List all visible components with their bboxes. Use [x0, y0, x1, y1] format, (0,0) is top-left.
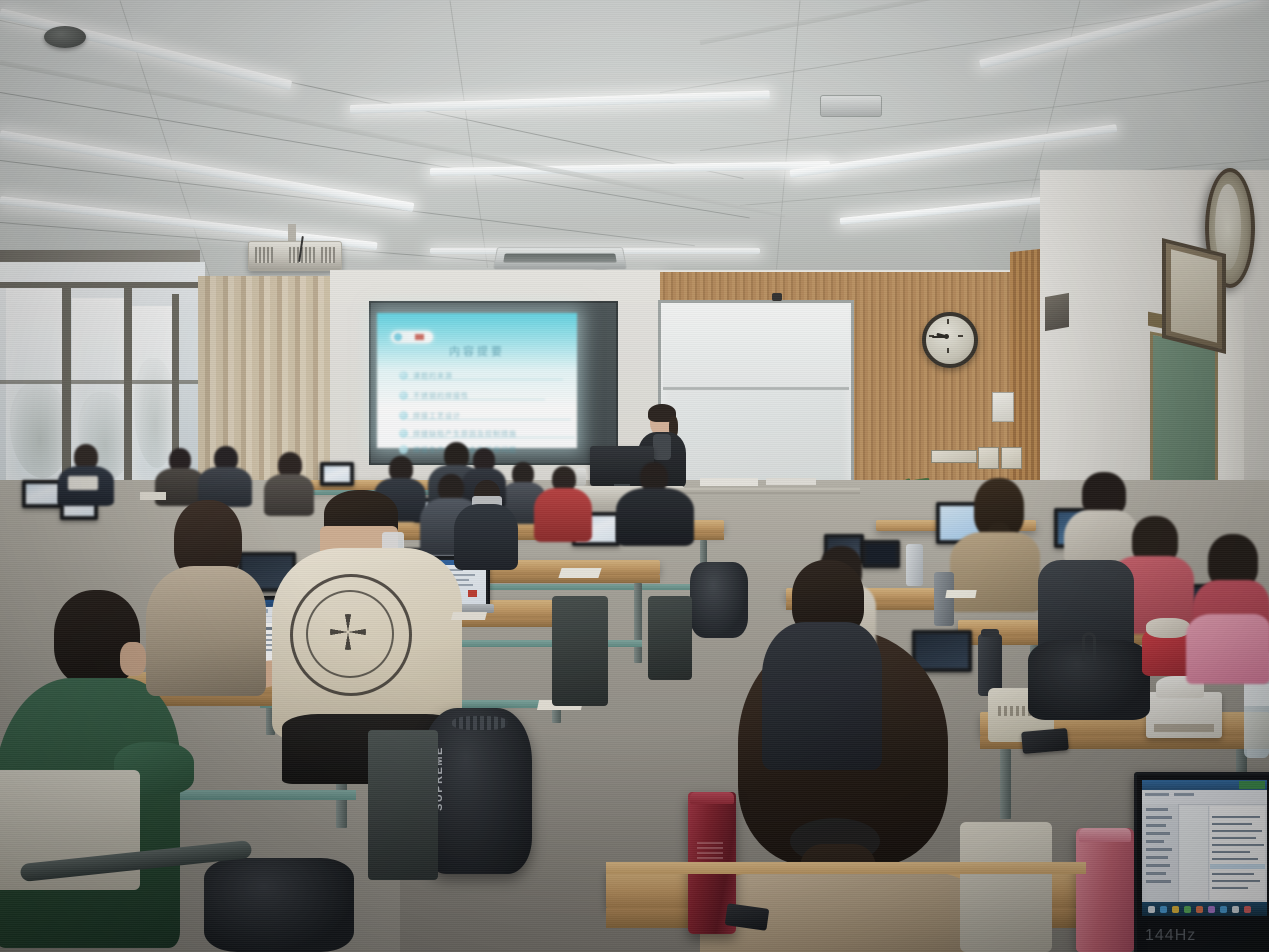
framed-picture — [1162, 238, 1226, 354]
student-foreground-beige — [146, 500, 266, 690]
sweatshirt-cross-emblem — [330, 614, 366, 650]
chair[interactable] — [552, 596, 608, 706]
slide-bullet-text: 焊缝缺陷产生原因及控制措施 — [413, 429, 517, 439]
white-bottle[interactable] — [906, 544, 923, 586]
backpack[interactable] — [690, 562, 748, 638]
notebook[interactable] — [558, 568, 601, 578]
student-right-dark — [762, 560, 882, 770]
grey-thermos[interactable] — [934, 572, 954, 626]
ceiling-vent-secondary — [820, 95, 882, 117]
slide-bullet-row: 焊接工艺设计 — [399, 409, 565, 422]
papers-on-ledge — [700, 478, 758, 486]
slide-logo — [391, 331, 433, 343]
student — [58, 444, 114, 502]
wall-notice-strip — [931, 450, 977, 463]
laptop[interactable] — [320, 462, 354, 486]
projection-screen: 内容提要 课题的来源 不锈钢的焊接性 焊接工艺设计 焊缝缺陷产生原因及控制措施 — [369, 301, 618, 465]
slide-bullet-row: 焊缝缺陷产生原因及控制措施 — [399, 427, 565, 440]
student — [950, 478, 1040, 600]
slide-bullet-row: 不锈钢的焊接性 — [399, 389, 565, 402]
slide-title: 内容提要 — [377, 343, 577, 359]
student — [534, 466, 592, 538]
backpack-supreme[interactable]: SUPREME — [422, 708, 532, 874]
paper[interactable] — [945, 590, 976, 598]
wall-notice — [978, 447, 999, 469]
student — [616, 462, 694, 542]
ceiling-air-conditioner — [493, 247, 627, 269]
paper[interactable] — [451, 612, 487, 620]
chair[interactable] — [368, 730, 438, 880]
slide-bullet-text: 焊接工艺设计 — [413, 411, 461, 421]
bullet-icon — [399, 445, 408, 454]
bullet-icon — [399, 391, 408, 400]
smartphone[interactable] — [1021, 728, 1069, 754]
classroom-photo: 内容提要 课题的来源 不锈钢的焊接性 焊接工艺设计 焊缝缺陷产生原因及控制措施 — [0, 0, 1269, 952]
bullet-icon — [399, 411, 408, 420]
ceiling-projector — [248, 241, 342, 271]
chair-backrest[interactable] — [960, 822, 1052, 952]
student — [198, 446, 252, 502]
file-explorer-window[interactable] — [1142, 780, 1267, 916]
presentation-slide: 内容提要 课题的来源 不锈钢的焊接性 焊接工艺设计 焊缝缺陷产生原因及控制措施 — [377, 313, 577, 448]
wall-clock-icon — [922, 312, 978, 368]
laptop-foreground-right[interactable]: 144Hz — [1134, 772, 1269, 952]
laptop-bezel-label: 144Hz — [1145, 927, 1196, 945]
backpack-handle — [1082, 632, 1096, 661]
wall-sign — [992, 392, 1014, 422]
papers-on-ledge — [766, 478, 816, 485]
slide-bullet-row: 课题的来源 — [399, 369, 565, 382]
slide-bullet-text: 不锈钢的焊接性 — [413, 391, 469, 401]
beige-coat — [146, 566, 266, 696]
desk-surface-front — [606, 862, 1086, 874]
chair[interactable] — [648, 596, 692, 680]
bullet-icon — [399, 371, 408, 380]
laptop[interactable] — [22, 480, 62, 508]
bullet-icon — [399, 429, 408, 438]
wall-speaker — [1045, 293, 1069, 331]
tissue-box[interactable] — [1146, 692, 1222, 738]
pink-tumbler[interactable] — [1076, 828, 1134, 952]
whiteboard-upper-panel — [663, 305, 849, 390]
slide-bullet-text: 课题的来源 — [413, 371, 453, 381]
paper[interactable] — [140, 492, 166, 500]
ear-face — [120, 642, 146, 676]
wall-notice — [1001, 447, 1022, 469]
white-bag[interactable] — [1146, 618, 1190, 638]
backpack-floor[interactable] — [204, 858, 354, 952]
black-bottle[interactable] — [978, 634, 1002, 696]
pink-jacket — [1186, 614, 1269, 684]
camera-icon — [772, 293, 782, 301]
smoke-detector-icon — [44, 26, 86, 48]
